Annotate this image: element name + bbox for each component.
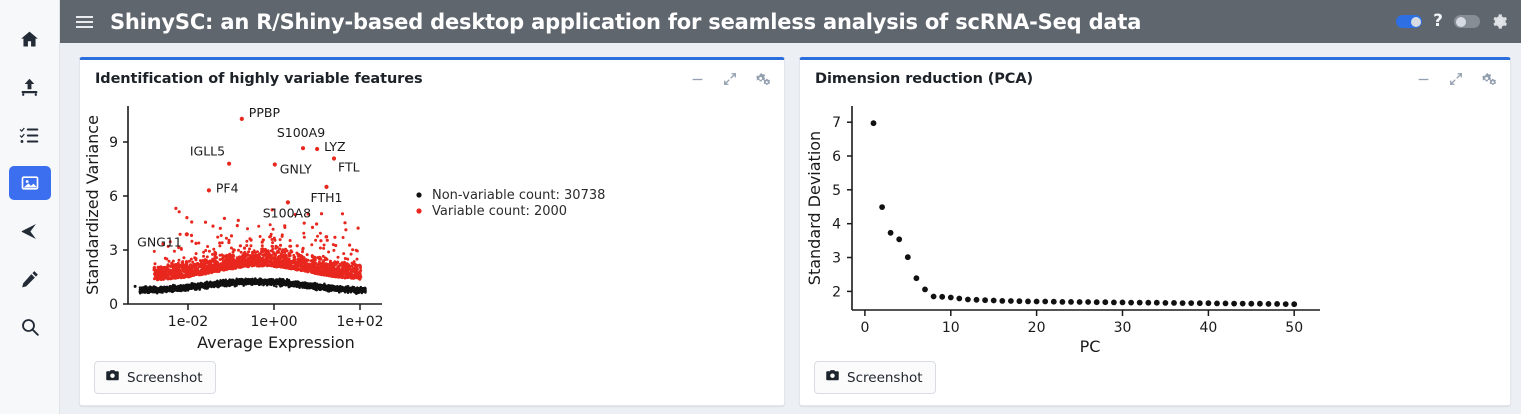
pca-point [1085,299,1091,305]
pca-point [1197,300,1203,306]
pca-point [956,296,962,302]
application-window: ShinySC: an R/Shiny-based desktop applic… [0,0,1521,414]
toggle-knob [1456,17,1466,27]
camera-icon [825,368,840,387]
app-header: ShinySC: an R/Shiny-based desktop applic… [60,0,1521,43]
gene-label-fth1: FTH1 [311,190,343,205]
page-title: ShinySC: an R/Shiny-based desktop applic… [110,10,1141,34]
pca-ytick: 2 [832,284,841,300]
pca-point [999,298,1005,304]
pca-point [1180,300,1186,306]
vf-xtick-0: 1e-02 [168,314,208,330]
vf-xtick-2: 1e+02 [336,314,383,330]
panel-title: Identification of highly variable featur… [95,71,422,87]
checklist-icon [19,125,40,146]
minimize-icon[interactable] [1417,73,1430,86]
pencil-icon [20,269,40,289]
vf-ytick-2: 6 [109,189,118,205]
vf-legend: Non-variable count: 30738 Variable count… [416,188,605,219]
expand-icon[interactable] [1449,72,1463,86]
pca-point [1025,299,1031,305]
help-icon[interactable]: ? [1433,13,1443,30]
hamburger-icon[interactable] [76,16,106,28]
pca-point [1163,300,1169,306]
pca-point [1291,301,1297,307]
sidebar-item-search[interactable] [9,310,51,344]
pca-ylabel: Standard Deviation [805,131,824,285]
gene-label-igll5: IGLL5 [190,144,225,159]
pca-ytick: 4 [832,217,841,233]
pca-point [1214,301,1220,307]
panel-tools [691,72,771,87]
pca-point [1017,298,1023,304]
sidebar-item-image[interactable] [9,166,51,200]
vf-ytick-1: 3 [109,243,118,259]
panel-footer: Screenshot [80,361,784,405]
theme-toggle-right[interactable] [1454,15,1480,28]
pca-point [888,230,894,236]
screenshot-label: Screenshot [127,370,203,386]
gears-icon[interactable] [756,72,771,87]
variable-features-plot: 0 3 6 9 1e-02 1e+00 1e+02 [80,98,784,361]
panel-header: Identification of highly variable featur… [80,60,784,98]
pca-point [922,287,928,293]
pca-point-series [871,120,1298,307]
pca-point [1008,298,1014,304]
sidebar [0,0,60,414]
pca-y-ticks: 234567 [832,115,852,300]
pca-point [939,294,945,300]
image-icon [20,173,40,193]
pca-point [896,236,902,242]
share-icon [19,221,40,242]
minimize-icon[interactable] [691,73,704,86]
gene-label-ftl: FTL [338,160,360,175]
gene-label-pf4: PF4 [216,180,239,195]
pca-point [1240,301,1246,307]
vf-xtick-1: 1e+00 [250,314,297,330]
pca-elbow-plot: 234567 01020304050 PC Standard Deviation [800,98,1510,361]
pca-point [1094,299,1100,305]
pca-point [1120,300,1126,306]
gear-icon[interactable] [1491,13,1508,30]
sidebar-item-upload[interactable] [9,70,51,104]
upload-icon [19,77,40,98]
gene-label-gng11: GNG11 [137,234,182,249]
pca-point [991,298,997,304]
pca-ytick: 3 [832,251,841,267]
screenshot-button[interactable]: Screenshot [814,361,936,394]
vf-x-ticks: 1e-02 1e+00 1e+02 [168,304,384,330]
pca-point [1171,300,1177,306]
toggle-knob [1411,17,1421,27]
camera-icon [105,368,120,387]
panel-header: Dimension reduction (PCA) [800,60,1510,98]
pca-point [1137,300,1143,306]
pca-ytick: 5 [832,183,841,199]
sidebar-item-edit[interactable] [9,262,51,296]
sidebar-item-checklist[interactable] [9,118,51,152]
panel-variable-features: Identification of highly variable featur… [79,57,785,406]
panel-footer: Screenshot [800,361,1510,405]
gene-label-ppbp: PPBP [249,105,281,120]
pca-point [1266,301,1272,307]
home-icon [19,29,40,50]
pca-xlabel: PC [1080,337,1101,356]
pca-point [974,297,980,303]
theme-toggle-left[interactable] [1396,15,1422,28]
pca-xtick: 50 [1285,320,1303,336]
legend-item-variable: Variable count: 2000 [432,204,567,219]
panel-tools [1417,72,1497,87]
screenshot-label: Screenshot [847,370,923,386]
pca-point [1034,299,1040,305]
pca-point [1274,301,1280,307]
pca-point [1051,299,1057,305]
pca-point [1257,301,1263,307]
sidebar-item-share[interactable] [9,214,51,248]
panel-body: 234567 01020304050 PC Standard Deviation [800,98,1510,361]
sidebar-item-home[interactable] [9,22,51,56]
pca-point [1111,300,1117,306]
vf-y-ticks: 0 3 6 9 [109,135,128,313]
gene-label-s100a9: S100A9 [277,125,325,140]
pca-point [1283,301,1289,307]
vf-svg: 0 3 6 9 1e-02 1e+00 1e+02 [80,98,784,361]
pca-xtick: 0 [860,320,869,336]
pca-xtick: 30 [1114,320,1132,336]
pca-xtick: 40 [1200,320,1218,336]
gene-label-s100a8: S100A8 [263,205,311,220]
pca-point [879,204,885,210]
vf-ytick-0: 0 [109,297,118,313]
pca-point [1042,299,1048,305]
pca-point [1060,299,1066,305]
pca-point [1223,301,1229,307]
pca-ytick: 6 [832,149,841,165]
panel-title: Dimension reduction (PCA) [815,71,1033,87]
pca-point [965,297,971,303]
screenshot-button[interactable]: Screenshot [94,361,216,394]
gears-icon[interactable] [1482,72,1497,87]
pca-point [931,294,937,300]
pca-point [1128,300,1134,306]
pca-point [948,295,954,301]
pca-x-ticks: 01020304050 [860,310,1303,336]
pca-point [982,297,988,303]
expand-icon[interactable] [723,72,737,86]
pca-point [1077,299,1083,305]
vf-point-cloud [134,207,367,295]
vf-ylabel: Standardized Variance [83,115,102,295]
gene-label-gnly: GNLY [280,162,312,177]
search-icon [20,317,40,337]
pca-point [1102,299,1108,305]
panel-body: 0 3 6 9 1e-02 1e+00 1e+02 [80,98,784,361]
pca-point [1154,300,1160,306]
pca-point [914,275,920,281]
pca-point [1248,301,1254,307]
gene-label-lyz: LYZ [324,139,346,154]
vf-ytick-3: 9 [109,135,118,151]
pca-point [1145,300,1151,306]
header-controls: ? [1396,13,1521,30]
pca-xtick: 10 [942,320,960,336]
panel-pca: Dimension reduction (PCA) [799,57,1511,406]
pca-svg: 234567 01020304050 PC Standard Deviation [800,98,1510,361]
pca-point [1206,300,1212,306]
vf-xlabel: Average Expression [197,333,355,352]
pca-point [905,254,911,260]
pca-point [1188,300,1194,306]
main-content: Identification of highly variable featur… [60,43,1521,414]
pca-xtick: 20 [1028,320,1046,336]
pca-ytick: 7 [832,115,841,131]
pca-point [1231,301,1237,307]
pca-point [871,120,877,126]
legend-item-nonvariable: Non-variable count: 30738 [432,188,605,203]
pca-point [1068,299,1074,305]
